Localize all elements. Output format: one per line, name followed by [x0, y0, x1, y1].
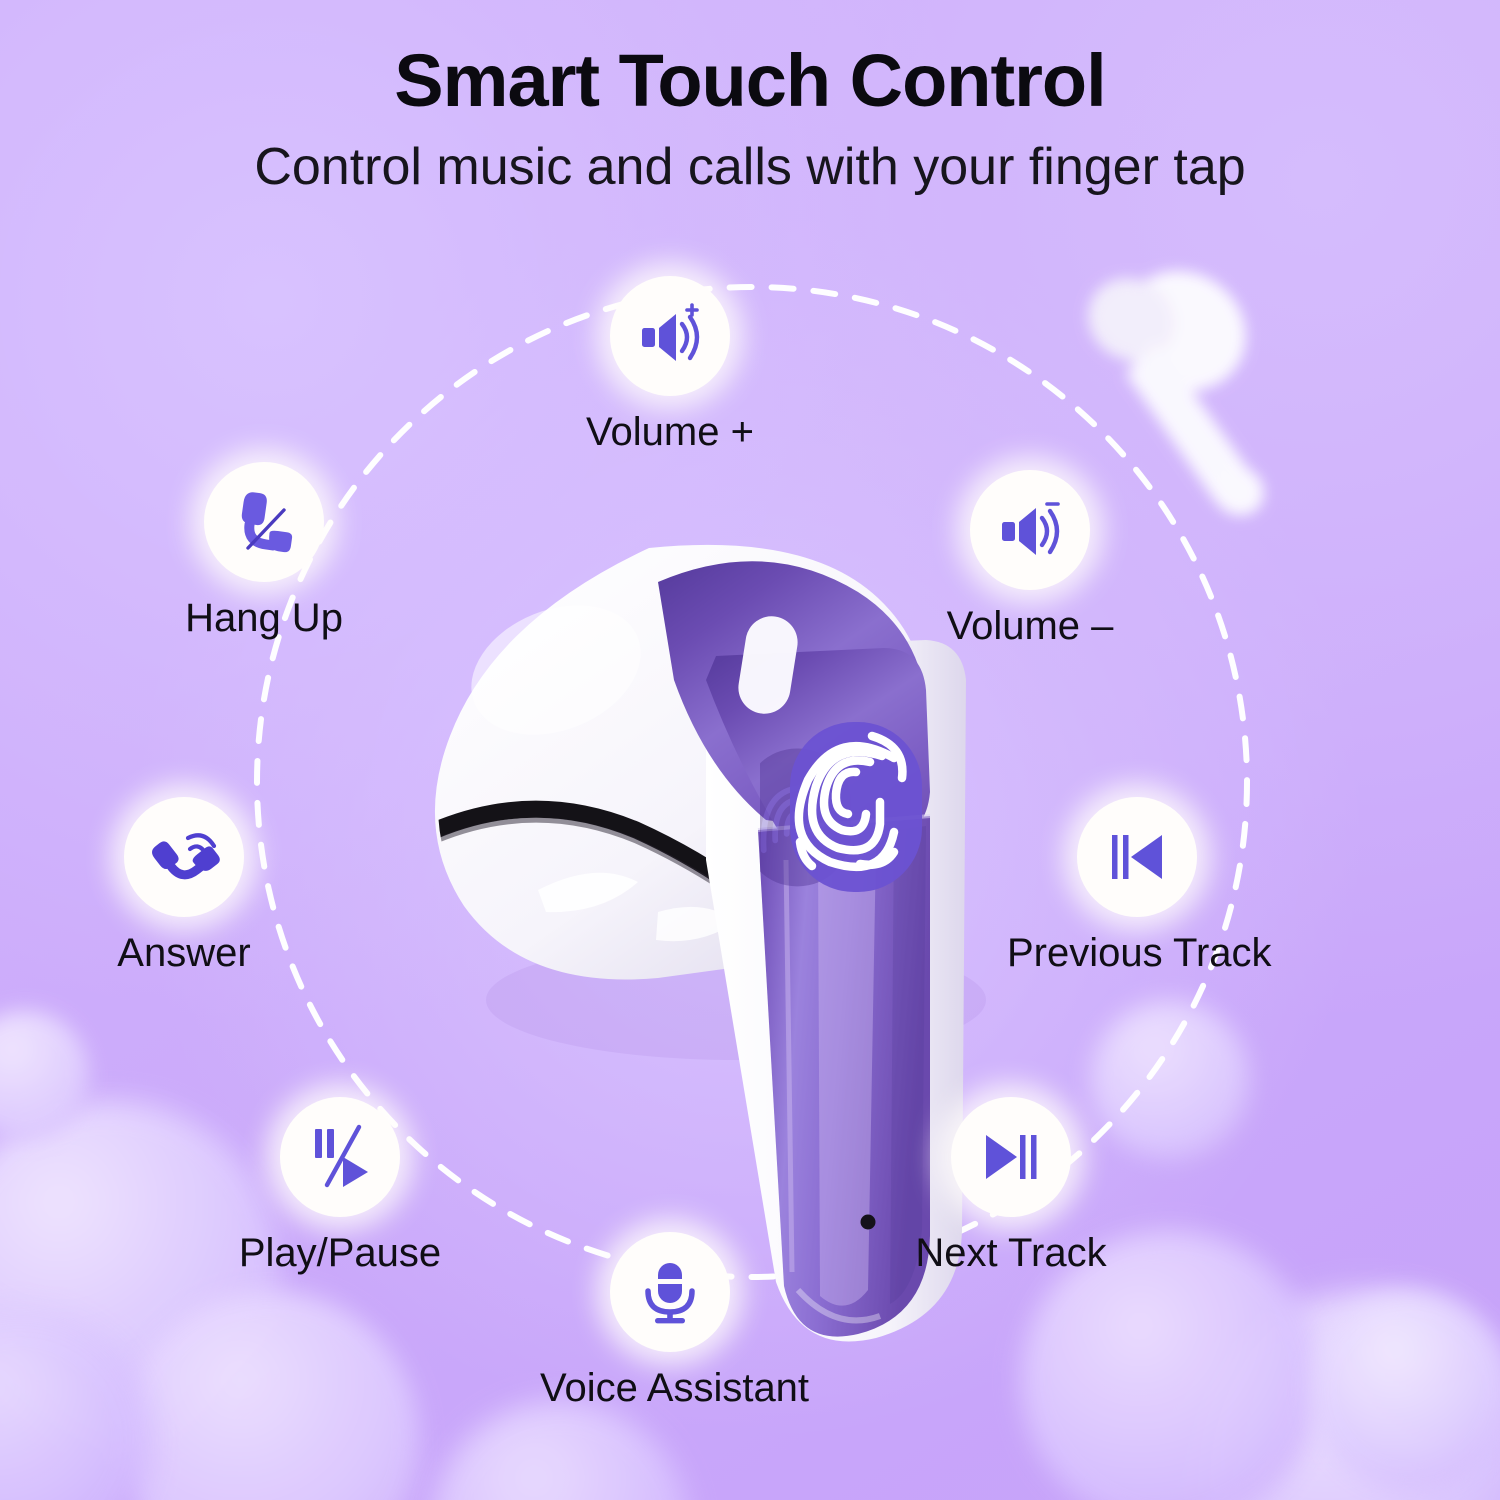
infographic-canvas: Smart Touch Control Control music and ca… — [0, 0, 1500, 1500]
page-title: Smart Touch Control — [0, 44, 1500, 118]
feature-label: Answer — [54, 931, 314, 975]
speaker-plus-icon — [632, 298, 708, 374]
microphone-icon — [633, 1255, 707, 1329]
feature-label: Play/Pause — [210, 1231, 470, 1275]
feature-label: Hang Up — [134, 596, 394, 640]
feature-bubble[interactable] — [124, 797, 244, 917]
feature-next-track[interactable]: Next Track — [881, 1097, 1141, 1275]
bokeh-sphere — [1200, 1290, 1500, 1500]
feature-bubble[interactable] — [610, 1232, 730, 1352]
feature-label: Volume + — [540, 410, 800, 454]
feature-play-pause[interactable]: Play/Pause — [210, 1097, 470, 1275]
bokeh-sphere — [0, 1310, 150, 1500]
next-track-icon — [974, 1120, 1048, 1194]
previous-track-icon — [1100, 820, 1174, 894]
feature-voice-assistant[interactable]: Voice Assistant — [540, 1232, 800, 1410]
bokeh-sphere — [1310, 1290, 1500, 1490]
play-pause-icon — [302, 1119, 378, 1195]
bokeh-sphere — [0, 1010, 90, 1140]
feature-bubble[interactable] — [610, 276, 730, 396]
feature-volume-down[interactable]: Volume – — [900, 470, 1160, 648]
feature-label: Volume – — [900, 604, 1160, 648]
feature-bubble[interactable] — [280, 1097, 400, 1217]
feature-bubble[interactable] — [204, 462, 324, 582]
fingerprint-icon — [760, 716, 950, 906]
speaker-minus-icon — [992, 492, 1068, 568]
page-subtitle: Control music and calls with your finger… — [0, 140, 1500, 195]
feature-bubble[interactable] — [951, 1097, 1071, 1217]
bokeh-sphere — [120, 1290, 420, 1500]
feature-label: Next Track — [881, 1231, 1141, 1275]
feature-answer[interactable]: Answer — [54, 797, 314, 975]
bokeh-sphere — [430, 1400, 690, 1500]
feature-bubble[interactable] — [970, 470, 1090, 590]
feature-label: Previous Track — [1007, 931, 1267, 975]
feature-previous-track[interactable]: Previous Track — [1007, 797, 1267, 975]
hang-up-call-icon — [226, 484, 302, 560]
feature-label: Voice Assistant — [540, 1366, 800, 1410]
feature-bubble[interactable] — [1077, 797, 1197, 917]
feature-volume-up[interactable]: Volume + — [540, 276, 800, 454]
answer-call-icon — [146, 819, 222, 895]
feature-hang-up[interactable]: Hang Up — [134, 462, 394, 640]
header: Smart Touch Control Control music and ca… — [0, 0, 1500, 195]
